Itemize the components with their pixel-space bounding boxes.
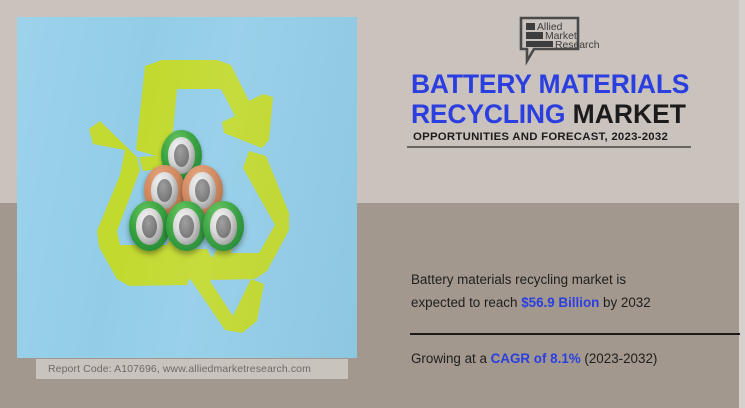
market-size-statement: Battery materials recycling market is ex… — [411, 268, 731, 314]
page-title: BATTERY MATERIALS RECYCLING MARKET — [411, 70, 741, 130]
subtitle-underline — [407, 146, 691, 148]
stats-divider — [410, 333, 740, 335]
recycling-batteries-image — [17, 17, 357, 358]
battery-terminal — [157, 179, 172, 202]
battery-bottom-right — [203, 201, 244, 251]
battery-bottom-left — [129, 201, 170, 251]
market-size-value: $56.9 Billion — [521, 295, 599, 310]
battery-pyramid — [17, 17, 357, 358]
stat2-prefix: Growing at a — [411, 351, 491, 366]
market-report-poster: Report Code: A107696, www.alliedmarketre… — [0, 0, 745, 408]
right-content-column: Allied Market Research BATTERY MATERIALS… — [395, 0, 745, 408]
stat1-line2-prefix: expected to reach — [411, 295, 521, 310]
report-code-bar: Report Code: A107696, www.alliedmarketre… — [36, 359, 348, 379]
title-line2-highlight: RECYCLING — [411, 99, 565, 129]
title-line2-plain: MARKET — [565, 99, 686, 129]
battery-terminal — [216, 215, 231, 238]
allied-market-research-logo: Allied Market Research — [518, 16, 624, 66]
battery-terminal — [179, 215, 194, 238]
svg-text:Research: Research — [555, 40, 600, 51]
stat1-line1: Battery materials recycling market is — [411, 272, 626, 287]
left-edge-strip — [0, 0, 17, 90]
cagr-value: CAGR of 8.1% — [491, 351, 581, 366]
report-code-text: Report Code: A107696, www.alliedmarketre… — [48, 363, 311, 375]
battery-terminal — [195, 179, 210, 202]
title-line1: BATTERY MATERIALS — [411, 69, 689, 99]
stat1-line2-suffix: by 2032 — [599, 295, 650, 310]
subtitle: OPPORTUNITIES AND FORECAST, 2023-2032 — [407, 131, 737, 143]
battery-terminal — [174, 144, 189, 167]
battery-terminal — [142, 215, 157, 238]
cagr-statement: Growing at a CAGR of 8.1% (2023-2032) — [411, 348, 741, 369]
stat2-suffix: (2023-2032) — [581, 351, 658, 366]
subtitle-block: OPPORTUNITIES AND FORECAST, 2023-2032 — [407, 131, 737, 148]
battery-bottom-center — [166, 201, 207, 251]
